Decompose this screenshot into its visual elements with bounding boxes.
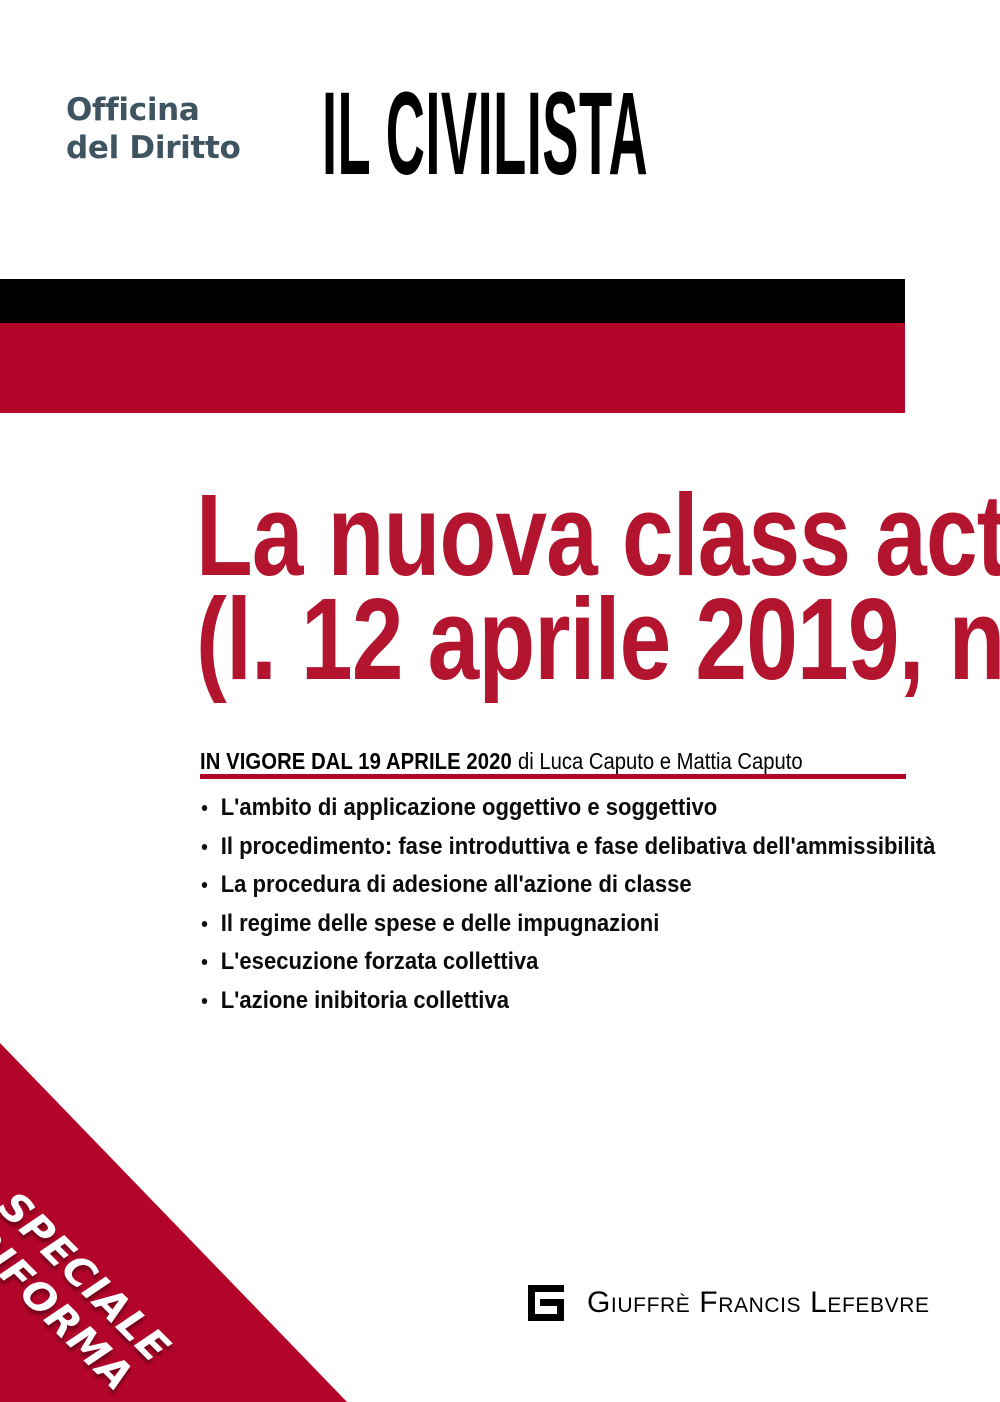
book-title-line-2: (l. 12 aprile 2019, n. 31): [196, 587, 804, 691]
masthead-title: IL CIVILISTA: [322, 78, 474, 190]
bullet-dot-icon: [202, 998, 207, 1004]
list-item: L'esecuzione forzata collettiva: [200, 947, 902, 977]
list-item-label: L'azione inibitoria collettiva: [221, 987, 509, 1014]
bullet-dot-icon: [202, 805, 207, 811]
bullet-dot-icon: [202, 959, 207, 965]
bullet-dot-icon: [202, 882, 207, 888]
subtitle-divider: [200, 774, 906, 779]
list-item-label: L'ambito di applicazione oggettivo e sog…: [221, 794, 718, 821]
list-item-label: Il regime delle spese e delle impugnazio…: [221, 910, 660, 937]
publisher-logo: Giuffrè Francis Lefebvre: [528, 1281, 930, 1325]
list-item: Il regime delle spese e delle impugnazio…: [200, 909, 902, 939]
list-item: La procedura di adesione all'azione di c…: [200, 870, 902, 900]
corner-banner: SPECIALE RIFORMA: [0, 1043, 360, 1402]
bullet-dot-icon: [202, 844, 207, 850]
contents-list: L'ambito di applicazione oggettivo e sog…: [200, 793, 980, 1024]
red-band: [0, 323, 905, 413]
series-brand: Officina del Diritto: [66, 92, 241, 168]
list-item-label: Il procedimento: fase introduttiva e fas…: [221, 833, 936, 860]
list-item-label: La procedura di adesione all'azione di c…: [221, 871, 692, 898]
cover-header: Officina del Diritto IL CIVILISTA: [0, 0, 1000, 270]
publisher-name-label: Giuffrè Francis Lefebvre: [587, 1286, 930, 1320]
book-title: La nuova class action (l. 12 aprile 2019…: [196, 483, 956, 691]
authors-label: di Luca Caputo e Mattia Caputo: [518, 748, 803, 774]
effective-date-label: IN VIGORE DAL 19 APRILE 2020: [200, 748, 512, 774]
series-brand-line-1: Officina: [66, 92, 241, 130]
series-brand-line-2: del Diritto: [66, 130, 241, 168]
list-item: Il procedimento: fase introduttiva e fas…: [200, 832, 902, 862]
subtitle-row: IN VIGORE DAL 19 APRILE 2020di Luca Capu…: [200, 748, 825, 775]
list-item: L'azione inibitoria collettiva: [200, 986, 902, 1016]
book-cover: Officina del Diritto IL CIVILISTA La nuo…: [0, 0, 1000, 1402]
book-title-line-1: La nuova class action: [196, 483, 804, 587]
black-band: [0, 279, 905, 323]
giuffre-logo-icon: [528, 1285, 570, 1321]
list-item-label: L'esecuzione forzata collettiva: [221, 948, 539, 975]
bullet-dot-icon: [202, 921, 207, 927]
list-item: L'ambito di applicazione oggettivo e sog…: [200, 793, 902, 823]
